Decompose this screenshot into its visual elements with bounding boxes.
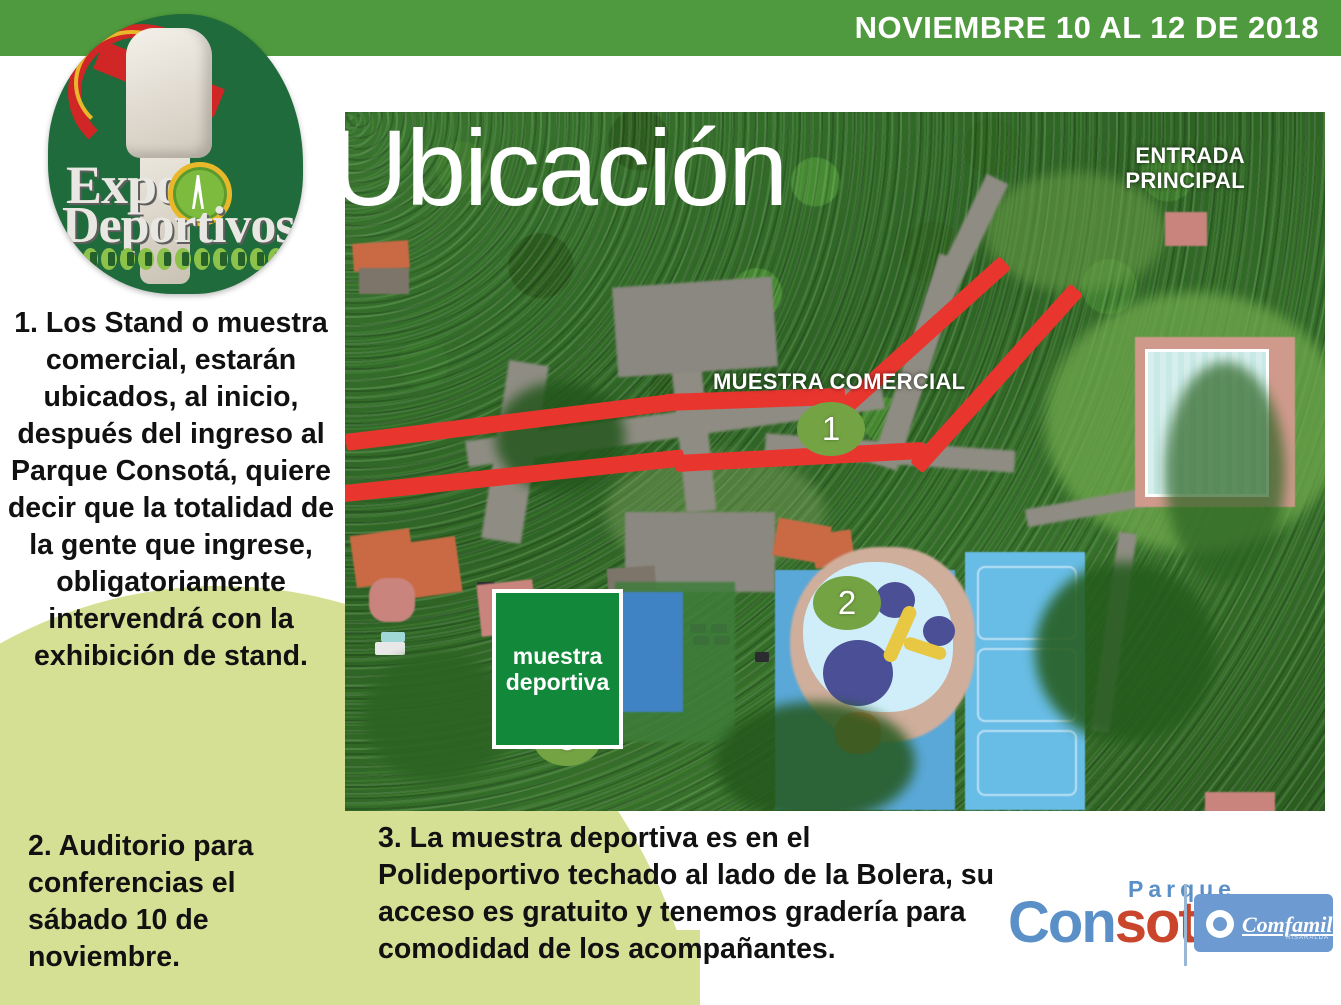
- sport-icon: [213, 248, 229, 270]
- map-label-muestra-comercial: MUESTRA COMERCIAL: [713, 370, 965, 395]
- map-marker-2[interactable]: 2: [813, 576, 881, 630]
- parque-consota-logo: Parque Consotá Comfamiliar RISARALDA: [1008, 872, 1333, 972]
- tree-cluster: [1035, 562, 1215, 742]
- muestra-deportiva-box: muestra deportiva: [492, 589, 623, 749]
- logo-text-deportivos: Deportivos: [62, 196, 295, 255]
- comfamiliar-globe-icon: [1206, 910, 1234, 938]
- page-title: Ubicación: [330, 114, 786, 222]
- building-roof: [359, 268, 409, 294]
- pool-feature: [823, 640, 893, 706]
- sport-icon: [138, 248, 154, 270]
- pool-feature: [923, 616, 955, 646]
- logo-divider: [1184, 884, 1187, 966]
- map-marker-1[interactable]: 1: [797, 402, 865, 456]
- consota-part-con: Con: [1008, 890, 1115, 955]
- sport-icon: [194, 248, 210, 270]
- map-label-entrada-principal: ENTRADA PRINCIPAL: [1125, 144, 1245, 193]
- building-roof: [1205, 792, 1275, 811]
- sport-icon: [157, 248, 173, 270]
- building-roof: [369, 578, 415, 622]
- event-date-label: NOVIEMBRE 10 AL 12 DE 2018: [855, 10, 1319, 46]
- sport-icon: [268, 248, 284, 270]
- tree-cluster: [715, 702, 915, 811]
- car: [381, 632, 405, 642]
- fist-icon: [126, 28, 212, 158]
- car: [755, 652, 769, 662]
- tree-cluster: [1165, 362, 1285, 582]
- tree-cluster: [363, 652, 513, 782]
- sport-icon: [250, 248, 266, 270]
- deportiva-line1: muestra: [513, 643, 602, 669]
- parking-lot: [612, 277, 778, 378]
- deportiva-text: muestra deportiva: [506, 643, 610, 696]
- expo-deportivos-logo: Expo Deportivos: [48, 14, 303, 294]
- note-item-2: 2. Auditorio para conferencias el sábado…: [28, 828, 328, 976]
- comfamiliar-panel: Comfamiliar RISARALDA: [1194, 894, 1333, 952]
- entrada-line2: PRINCIPAL: [1125, 168, 1245, 193]
- entrada-line1: ENTRADA: [1135, 143, 1245, 168]
- car: [375, 642, 405, 655]
- comfamiliar-subtitle: RISARALDA: [1286, 935, 1329, 941]
- bowling-roof: [613, 592, 683, 712]
- court-line: [977, 730, 1077, 796]
- note-item-1: 1. Los Stand o muestra comercial, estará…: [4, 305, 338, 675]
- deportiva-line2: deportiva: [506, 669, 610, 695]
- sport-icon: [120, 248, 136, 270]
- building-roof: [1165, 212, 1207, 246]
- sport-icons-strip: [64, 248, 284, 270]
- sport-icon: [175, 248, 191, 270]
- sport-icon: [231, 248, 247, 270]
- sport-icon: [64, 248, 80, 270]
- sport-icon: [83, 248, 99, 270]
- note-item-3: 3. La muestra deportiva es en el Polidep…: [378, 820, 998, 968]
- slide-canvas: NOVIEMBRE 10 AL 12 DE 2018: [0, 0, 1341, 1005]
- sport-icon: [101, 248, 117, 270]
